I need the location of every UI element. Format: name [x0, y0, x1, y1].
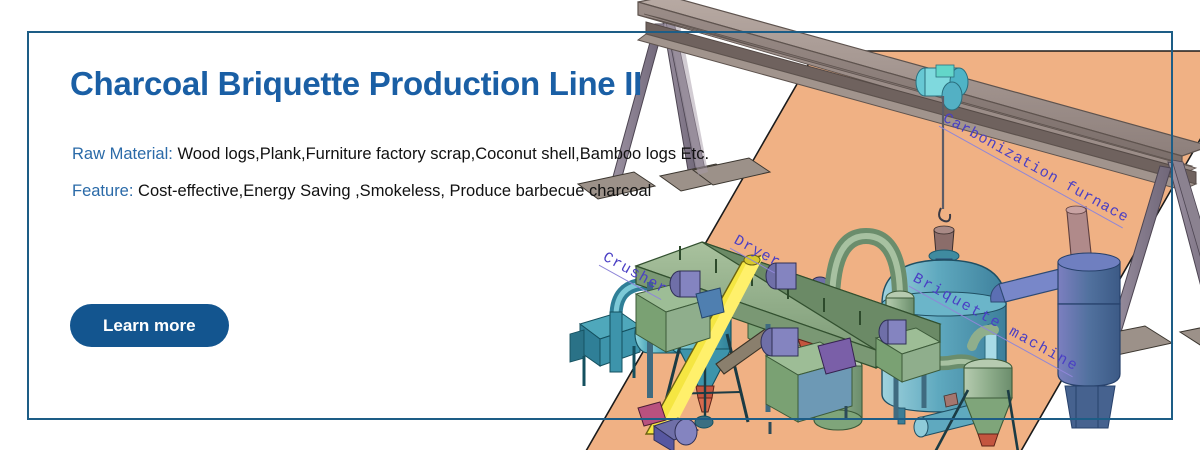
spec-feature-value: Cost-effective,Energy Saving ,Smokeless,… [138, 182, 651, 200]
spec-raw-material-value: Wood logs,Plank,Furniture factory scrap,… [177, 145, 709, 163]
page-title: Charcoal Briquette Production Line II [70, 66, 850, 102]
spec-feature: Feature: Cost-effective,Energy Saving ,S… [72, 182, 651, 202]
spec-raw-material-label: Raw Material: [72, 145, 173, 163]
learn-more-button[interactable]: Learn more [70, 304, 229, 347]
copy-block: Charcoal Briquette Production Line II Ra… [70, 66, 850, 102]
spec-feature-label: Feature: [72, 182, 133, 200]
promo-banner: Crusher Dryer Briquette machine Carboniz… [0, 0, 1200, 450]
spec-raw-material: Raw Material: Wood logs,Plank,Furniture … [72, 145, 709, 165]
